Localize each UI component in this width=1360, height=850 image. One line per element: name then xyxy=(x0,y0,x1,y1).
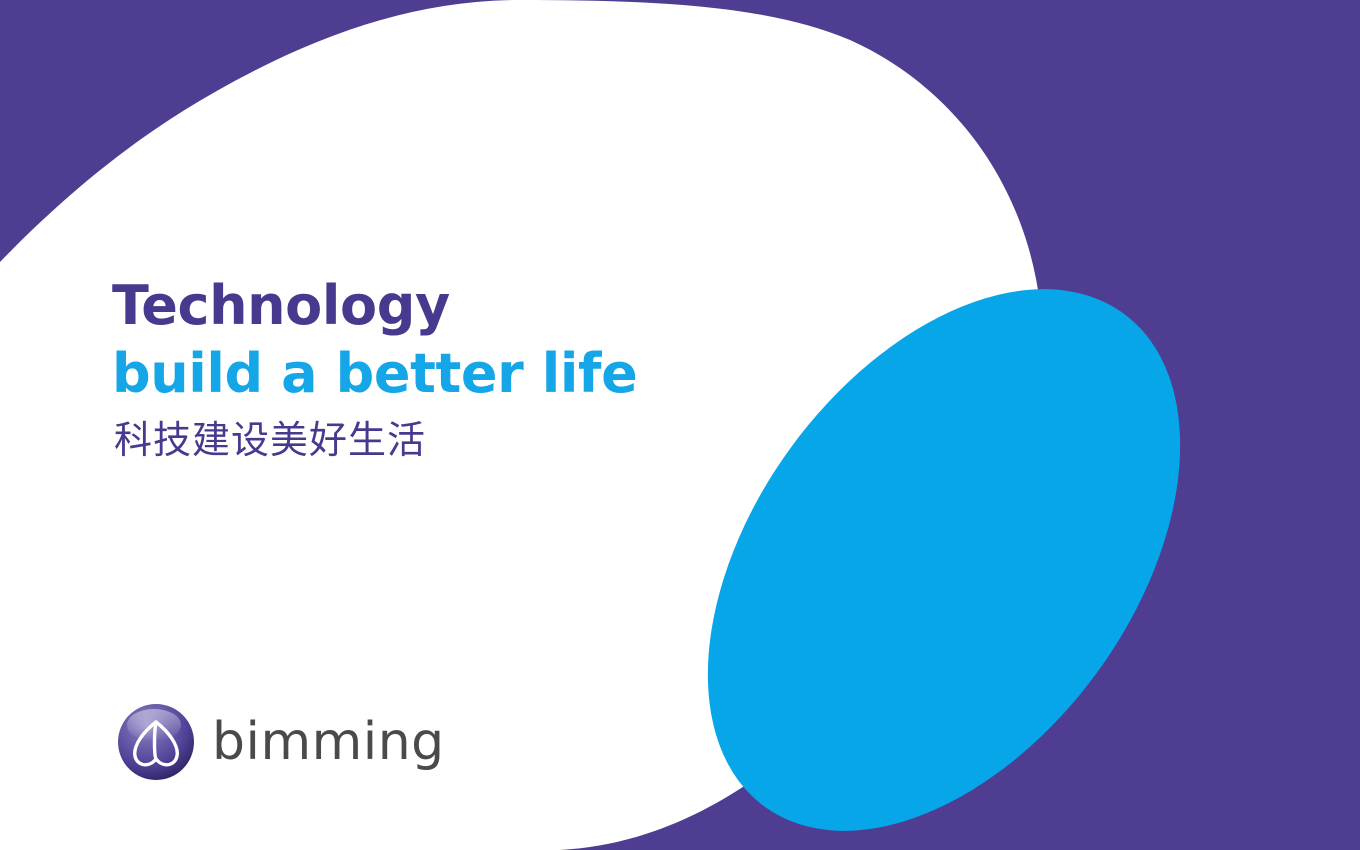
headline-block: Technology build a better life 科技建设美好生活 xyxy=(112,272,637,464)
presentation-slide: Technology build a better life 科技建设美好生活 xyxy=(0,0,1360,850)
logo-wordmark: bimming xyxy=(212,716,445,768)
logo-lockup: bimming xyxy=(116,702,445,782)
headline-line-build-a-better-life: build a better life xyxy=(112,340,637,408)
logo-loop-tail xyxy=(155,722,157,759)
bimming-loop-mark-icon xyxy=(116,702,196,782)
headline-line-technology: Technology xyxy=(112,272,637,340)
headline-chinese-subtitle: 科技建设美好生活 xyxy=(114,416,637,464)
